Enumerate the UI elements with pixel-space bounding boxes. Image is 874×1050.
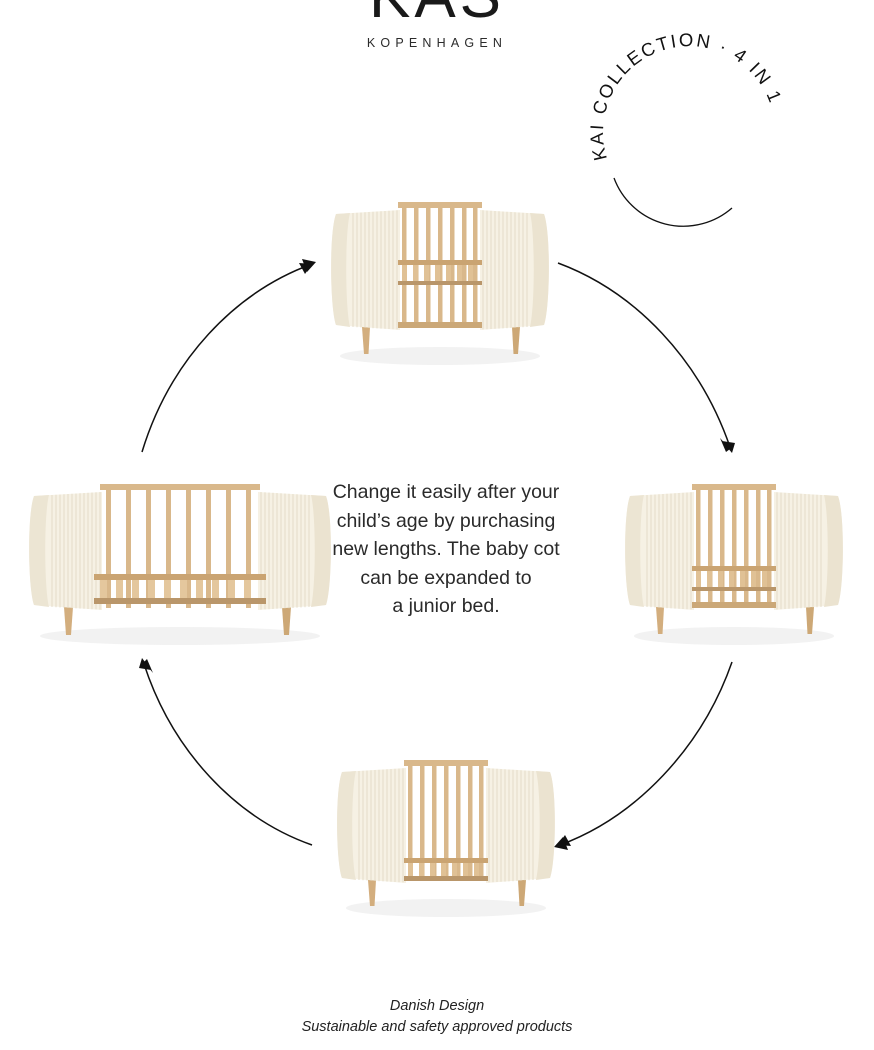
panel-left: [331, 210, 400, 330]
brand-name: KAS: [0, 0, 874, 28]
floor-shadow: [340, 347, 540, 365]
slat-section: [692, 484, 776, 608]
floor-shadow: [40, 627, 320, 645]
slat-section: [404, 760, 488, 881]
description-line-2: child’s age by purchasing: [327, 507, 565, 536]
product-image-cot-newborn[interactable]: [326, 188, 554, 368]
footer-line-2: Sustainable and safety approved products: [0, 1017, 874, 1038]
arrow-bottom-to-left: [139, 658, 312, 845]
product-image-cot-mid[interactable]: [620, 470, 848, 648]
description-text: Change it easily after your child’s age …: [327, 478, 565, 621]
panel-right: [480, 210, 549, 330]
panel-left: [29, 492, 102, 610]
floor-shadow: [346, 899, 546, 917]
description-line-5: a junior bed.: [327, 592, 565, 621]
product-image-cot-low[interactable]: [332, 748, 560, 920]
description-line-4: can be expanded to: [327, 564, 565, 593]
badge-arc-line: [614, 178, 732, 226]
slat-section: [398, 202, 482, 328]
footer-text: Danish Design Sustainable and safety app…: [0, 996, 874, 1037]
kai-collection-badge: KAI COLLECTION · 4 IN 1: [592, 38, 792, 223]
arrow-top-to-right: [558, 263, 735, 453]
panel-left: [337, 768, 406, 883]
badge-circular-text: KAI COLLECTION · 4 IN 1: [586, 29, 787, 163]
panel-right: [774, 492, 843, 610]
product-image-junior-bed[interactable]: [24, 470, 336, 648]
floor-shadow: [634, 627, 834, 645]
panel-right: [258, 492, 331, 610]
slat-section: [94, 484, 266, 608]
arrow-right-to-bottom: [554, 662, 732, 850]
panel-right: [486, 768, 555, 883]
description-line-3: new lengths. The baby cot: [327, 535, 565, 564]
panel-left: [625, 492, 694, 610]
footer-line-1: Danish Design: [0, 996, 874, 1017]
description-line-1: Change it easily after your: [327, 478, 565, 507]
arrow-left-to-top: [142, 259, 316, 452]
